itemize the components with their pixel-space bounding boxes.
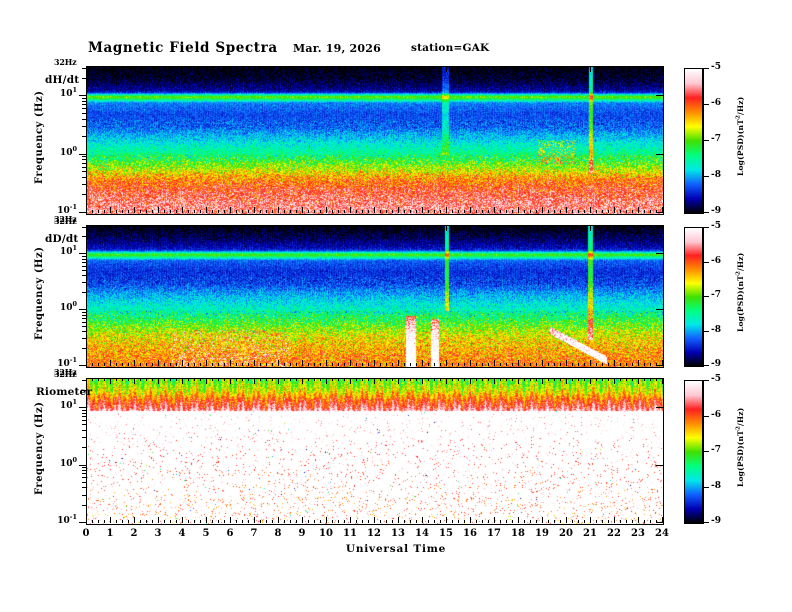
xtick-major [638, 360, 639, 366]
ytick-minor [82, 78, 86, 79]
xtick-minor-top [116, 66, 117, 69]
xtick-minor [554, 363, 555, 366]
colorbar-tick [703, 262, 709, 263]
ytick-minor [82, 236, 86, 237]
xtick-minor [224, 210, 225, 213]
xtick-major [662, 517, 663, 523]
xtick-minor [416, 210, 417, 213]
xtick-minor-top [602, 66, 603, 69]
xtick-minor [620, 520, 621, 523]
xtick-minor [632, 363, 633, 366]
xtick-label-7: 7 [241, 528, 267, 539]
xtick-minor [530, 363, 531, 366]
xtick-minor-top [152, 378, 153, 381]
xtick-major-top [182, 378, 183, 384]
colorbar-2 [684, 227, 703, 367]
xtick-major [350, 360, 351, 366]
xtick-minor [356, 363, 357, 366]
xtick-minor [320, 210, 321, 213]
ytick-minor [82, 467, 86, 468]
xtick-minor [332, 363, 333, 366]
xtick-minor-top [476, 225, 477, 228]
xtick-major-top [230, 225, 231, 231]
xtick-major [134, 517, 135, 523]
colorbar-tick [703, 296, 709, 297]
xtick-minor-top [194, 225, 195, 228]
colorbar-tick-label-1: -6 [711, 256, 721, 266]
xtick-major [206, 517, 207, 523]
xtick-minor-top [536, 378, 537, 381]
xtick-minor-top [404, 66, 405, 69]
xtick-minor [248, 363, 249, 366]
xtick-major [302, 517, 303, 523]
xtick-minor-top [380, 225, 381, 228]
xtick-minor [176, 520, 177, 523]
xtick-minor [266, 520, 267, 523]
xtick-minor-top [362, 378, 363, 381]
xtick-minor-top [536, 66, 537, 69]
panel-dhdt[interactable] [86, 66, 664, 215]
xtick-major-top [158, 378, 159, 384]
xtick-major-top [374, 66, 375, 72]
xtick-minor-top [356, 378, 357, 381]
colorbar-tick-label-1: -6 [711, 410, 721, 420]
ytick-minor [82, 430, 86, 431]
colorbar-gradient [685, 69, 702, 213]
xtick-major [158, 207, 159, 213]
xtick-minor [500, 520, 501, 523]
ytick-minor [82, 487, 86, 488]
xtick-major-top [542, 378, 543, 384]
xtick-minor-top [152, 66, 153, 69]
xtick-minor-top [284, 378, 285, 381]
xtick-minor-top [572, 66, 573, 69]
xtick-major [638, 207, 639, 213]
xtick-minor-top [440, 378, 441, 381]
xtick-major [614, 360, 615, 366]
xtick-minor [362, 520, 363, 523]
xtick-minor-top [440, 66, 441, 69]
xtick-minor [242, 520, 243, 523]
xtick-minor-top [650, 378, 651, 381]
xtick-minor-top [416, 378, 417, 381]
ytick-minor [82, 171, 86, 172]
xtick-minor-top [296, 66, 297, 69]
xtick-minor [644, 520, 645, 523]
xtick-minor-top [488, 378, 489, 381]
xtick-minor-top [458, 66, 459, 69]
xtick-major-top [134, 225, 135, 231]
colorbar-tick [703, 212, 709, 213]
xtick-minor [602, 210, 603, 213]
xtick-minor [392, 520, 393, 523]
xtick-minor-top [248, 225, 249, 228]
xtick-minor [200, 520, 201, 523]
xtick-minor-top [290, 378, 291, 381]
xtick-major [230, 517, 231, 523]
xtick-label-0: 0 [73, 528, 99, 539]
xtick-minor-top [290, 225, 291, 228]
xtick-minor-top [164, 378, 165, 381]
xtick-minor [380, 363, 381, 366]
xtick-minor [560, 210, 561, 213]
panel-label-riometer: Riometer [36, 386, 92, 398]
xtick-minor-top [170, 225, 171, 228]
xtick-minor [536, 210, 537, 213]
xtick-minor-top [476, 66, 477, 69]
xtick-major-top [110, 378, 111, 384]
ytick-major [79, 407, 86, 408]
ytick-minor [82, 477, 86, 478]
xtick-minor [404, 210, 405, 213]
ytick-minor [82, 470, 86, 471]
xtick-minor [434, 520, 435, 523]
xtick-major [494, 207, 495, 213]
xtick-minor [602, 363, 603, 366]
xtick-minor [224, 363, 225, 366]
xtick-minor-top [344, 225, 345, 228]
xtick-major-top [614, 225, 615, 231]
xtick-minor [458, 363, 459, 366]
xtick-major [302, 360, 303, 366]
xtick-minor [260, 363, 261, 366]
xtick-major-top [662, 225, 663, 231]
xtick-minor-top [218, 225, 219, 228]
xtick-minor [404, 363, 405, 366]
xtick-major [278, 360, 279, 366]
xtick-minor [212, 210, 213, 213]
ytick-minor [82, 256, 86, 257]
xtick-major [494, 517, 495, 523]
xtick-major [662, 360, 663, 366]
xtick-major-top [614, 378, 615, 384]
xtick-minor [482, 363, 483, 366]
xtick-minor [656, 210, 657, 213]
xtick-minor [506, 363, 507, 366]
xtick-minor [506, 520, 507, 523]
xtick-minor [170, 520, 171, 523]
xtick-minor [608, 363, 609, 366]
xtick-minor [608, 210, 609, 213]
xtick-minor [572, 363, 573, 366]
xtick-minor [362, 210, 363, 213]
ytick-label-1: 100 [52, 303, 77, 313]
xtick-minor-top [356, 66, 357, 69]
colorbar-tick-label-4: -9 [711, 206, 721, 216]
xtick-minor [368, 210, 369, 213]
xtick-minor-top [626, 225, 627, 228]
xtick-minor-top [656, 225, 657, 228]
xtick-minor [284, 210, 285, 213]
xtick-major-top [326, 225, 327, 231]
xtick-minor-top [260, 378, 261, 381]
xtick-minor [416, 520, 417, 523]
xtick-minor-top [146, 378, 147, 381]
xtick-minor-top [284, 225, 285, 228]
panel-riometer[interactable] [86, 378, 664, 525]
xtick-minor-top [140, 225, 141, 228]
xtick-label-23: 23 [625, 528, 651, 539]
xtick-minor [572, 520, 573, 523]
xtick-minor [560, 363, 561, 366]
xtick-minor [218, 363, 219, 366]
colorbar-tick-label-2: -7 [711, 445, 721, 455]
panel-dddt[interactable] [86, 225, 664, 368]
xtick-minor [608, 520, 609, 523]
xtick-minor [524, 363, 525, 366]
xtick-minor-top [128, 225, 129, 228]
ytick-minor [82, 331, 86, 332]
xtick-major-top [422, 378, 423, 384]
xtick-major-top [182, 66, 183, 72]
xtick-major [206, 360, 207, 366]
colorbar-gradient [685, 381, 702, 523]
colorbar-title: Log(PSD)(nT2/Hz) [736, 97, 745, 176]
xtick-minor-top [572, 378, 573, 381]
xtick-major [566, 360, 567, 366]
ytick-minor [82, 167, 86, 168]
xtick-minor [92, 210, 93, 213]
xtick-minor-top [344, 66, 345, 69]
xtick-label-8: 8 [265, 528, 291, 539]
xtick-minor [458, 520, 459, 523]
xtick-minor [512, 210, 513, 213]
xtick-minor-top [578, 66, 579, 69]
colorbar-tick-label-0: -5 [711, 374, 721, 384]
panel-label-dhdt: dH/dt [45, 74, 79, 86]
xtick-minor-top [482, 225, 483, 228]
xtick-minor-top [242, 225, 243, 228]
xtick-minor-top [404, 225, 405, 228]
xtick-minor-top [428, 225, 429, 228]
xtick-minor [284, 520, 285, 523]
xtick-major [590, 207, 591, 213]
xtick-label-5: 5 [193, 528, 219, 539]
xtick-minor [128, 210, 129, 213]
xtick-major [446, 207, 447, 213]
ytick-label-2: 10-1 [52, 516, 77, 526]
xtick-minor [314, 363, 315, 366]
xtick-minor [452, 363, 453, 366]
xtick-minor [296, 210, 297, 213]
xtick-major-top [518, 378, 519, 384]
xtick-minor-top [194, 378, 195, 381]
xtick-minor [290, 520, 291, 523]
xtick-minor [116, 363, 117, 366]
xtick-minor [548, 363, 549, 366]
ytick-minor [82, 312, 86, 313]
frequency-edge-label-top: 32Hz [54, 369, 76, 379]
xtick-minor-top [296, 378, 297, 381]
xtick-major-top [86, 378, 87, 384]
ytick-minor [82, 156, 86, 157]
xtick-major [374, 517, 375, 523]
xtick-minor [260, 520, 261, 523]
xtick-minor [464, 210, 465, 213]
xtick-minor-top [266, 66, 267, 69]
xtick-minor-top [260, 66, 261, 69]
xtick-major-top [638, 225, 639, 231]
xtick-minor [338, 363, 339, 366]
ytick-minor [82, 101, 86, 102]
xtick-minor-top [620, 378, 621, 381]
ytick-label-0: 101 [52, 401, 77, 411]
xtick-label-11: 11 [337, 528, 363, 539]
xtick-minor-top [266, 225, 267, 228]
xtick-minor [314, 520, 315, 523]
xtick-label-3: 3 [145, 528, 171, 539]
xtick-minor [530, 210, 531, 213]
xtick-minor [524, 210, 525, 213]
xtick-major [590, 360, 591, 366]
xtick-minor [512, 363, 513, 366]
xtick-minor [290, 363, 291, 366]
xtick-minor-top [602, 225, 603, 228]
xtick-minor-top [200, 378, 201, 381]
xtick-minor [560, 520, 561, 523]
xtick-minor-top [506, 225, 507, 228]
xtick-minor-top [104, 225, 105, 228]
xtick-minor-top [368, 378, 369, 381]
xtick-minor-top [266, 378, 267, 381]
xtick-minor [164, 363, 165, 366]
xtick-minor [266, 363, 267, 366]
xtick-minor-top [140, 378, 141, 381]
xtick-major [158, 517, 159, 523]
xtick-minor [626, 363, 627, 366]
xtick-minor-top [554, 66, 555, 69]
xtick-minor-top [98, 225, 99, 228]
colorbar-tick-label-3: -8 [711, 170, 721, 180]
xtick-minor-top [416, 225, 417, 228]
xtick-minor [332, 210, 333, 213]
xtick-major [254, 207, 255, 213]
colorbar-tick [703, 522, 709, 523]
xtick-minor-top [428, 378, 429, 381]
xtick-minor [152, 210, 153, 213]
xtick-minor [626, 520, 627, 523]
spectrogram-image-dddt [87, 226, 663, 367]
colorbar-title: Log(PSD)(nT2/Hz) [736, 408, 745, 487]
xtick-major [158, 360, 159, 366]
ytick-major-right [656, 465, 663, 466]
page-title: Magnetic Field Spectra [88, 40, 278, 56]
xtick-minor-top [92, 225, 93, 228]
xtick-minor [170, 210, 171, 213]
xtick-minor-top [458, 225, 459, 228]
xtick-minor-top [152, 225, 153, 228]
xtick-minor [632, 210, 633, 213]
xtick-major [86, 207, 87, 213]
xtick-major-top [350, 225, 351, 231]
ytick-major [79, 522, 86, 523]
xtick-minor [356, 210, 357, 213]
xtick-minor [170, 363, 171, 366]
xtick-minor [548, 520, 549, 523]
xtick-minor-top [500, 378, 501, 381]
ytick-major [79, 154, 86, 155]
xtick-minor-top [488, 66, 489, 69]
xtick-major-top [278, 225, 279, 231]
xtick-minor [314, 210, 315, 213]
xtick-minor [320, 520, 321, 523]
ytick-minor [82, 424, 86, 425]
xtick-major-top [278, 66, 279, 72]
xtick-minor [548, 210, 549, 213]
xtick-minor-top [536, 225, 537, 228]
xtick-major-top [206, 378, 207, 384]
xtick-major [662, 207, 663, 213]
xtick-minor-top [224, 378, 225, 381]
xtick-minor-top [104, 378, 105, 381]
xtick-minor-top [362, 66, 363, 69]
xtick-major [134, 360, 135, 366]
xtick-major-top [398, 225, 399, 231]
xtick-minor-top [452, 225, 453, 228]
ytick-major-right [656, 154, 663, 155]
xtick-major-top [326, 378, 327, 384]
xtick-major-top [110, 225, 111, 231]
xtick-major [470, 517, 471, 523]
xtick-major [542, 207, 543, 213]
xtick-minor-top [104, 66, 105, 69]
xtick-major [278, 207, 279, 213]
xtick-minor-top [512, 225, 513, 228]
frequency-edge-label-top: 32Hz [54, 216, 76, 226]
xtick-minor-top [308, 225, 309, 228]
xtick-major [614, 517, 615, 523]
colorbar-tick [703, 487, 709, 488]
ytick-major-right [656, 253, 663, 254]
xtick-minor [272, 210, 273, 213]
ytick-minor [82, 473, 86, 474]
xtick-minor [410, 210, 411, 213]
xtick-minor-top [644, 225, 645, 228]
xtick-minor [380, 210, 381, 213]
xtick-minor [188, 210, 189, 213]
xtick-minor-top [584, 66, 585, 69]
xtick-minor [296, 363, 297, 366]
xtick-minor-top [560, 66, 561, 69]
ytick-major-right [656, 407, 663, 408]
colorbar-3 [684, 380, 703, 524]
xtick-label-21: 21 [577, 528, 603, 539]
xtick-minor-top [530, 225, 531, 228]
xtick-major [350, 517, 351, 523]
xtick-major-top [446, 378, 447, 384]
xtick-minor [434, 210, 435, 213]
xtick-minor-top [554, 378, 555, 381]
ytick-label-0: 101 [52, 247, 77, 257]
xtick-major-top [374, 225, 375, 231]
colorbar-tick [703, 365, 709, 366]
xtick-minor-top [236, 225, 237, 228]
xtick-minor [344, 363, 345, 366]
xtick-major [518, 360, 519, 366]
xtick-minor [338, 520, 339, 523]
xtick-minor-top [176, 66, 177, 69]
xtick-minor-top [92, 66, 93, 69]
xtick-minor [530, 520, 531, 523]
xtick-major-top [86, 225, 87, 231]
xtick-label-10: 10 [313, 528, 339, 539]
ytick-minor [82, 482, 86, 483]
colorbar-tick [703, 227, 709, 228]
xtick-minor-top [308, 378, 309, 381]
xtick-minor [176, 363, 177, 366]
xtick-minor-top [380, 66, 381, 69]
xtick-major-top [446, 225, 447, 231]
